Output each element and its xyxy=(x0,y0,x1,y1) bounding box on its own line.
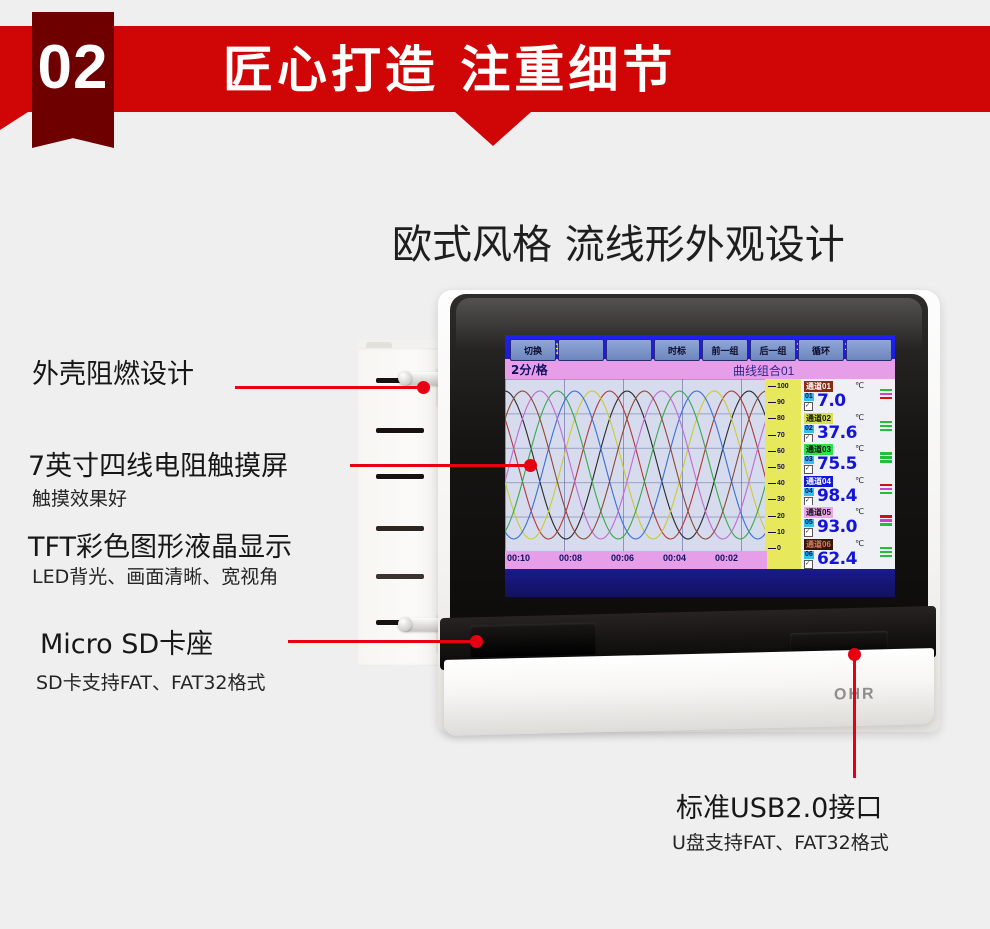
annotation-touch-sub: 触摸效果好 xyxy=(32,484,127,511)
y-axis-tick: 20 xyxy=(777,513,785,520)
bargraph-segment xyxy=(880,547,892,549)
y-axis-tick: 40 xyxy=(777,480,785,487)
channel-unit: ℃ xyxy=(855,476,864,485)
channel-value: 75.5 xyxy=(817,454,857,474)
bargraph-segment xyxy=(880,421,892,423)
channel-unit: ℃ xyxy=(855,444,864,453)
y-axis-tick: 80 xyxy=(777,415,785,422)
lcd-button[interactable] xyxy=(606,339,652,361)
device-photo: 实时曲线 M 2017-11-08 16:33:59 2分/格 曲线组合01 1… xyxy=(340,282,940,752)
channel-row[interactable]: 通道05℃05✓93.0 xyxy=(801,505,895,538)
channel-unit: ℃ xyxy=(855,381,864,390)
y-axis-tick: 90 xyxy=(777,399,785,406)
bargraph-segment xyxy=(880,393,892,395)
lcd-button[interactable]: 切换 xyxy=(510,339,556,361)
channel-value: 62.4 xyxy=(817,549,857,569)
leader-line-case xyxy=(235,386,425,389)
channel-unit: ℃ xyxy=(855,507,864,516)
leader-dot-sd xyxy=(470,635,483,648)
bargraph-segment xyxy=(880,460,892,462)
channel-bargraph xyxy=(880,547,892,559)
y-axis-tick: 30 xyxy=(777,496,785,503)
trend-curves xyxy=(505,379,767,551)
annotation-usb-title: 标准USB2.0接口 xyxy=(676,786,882,825)
time-axis-label: 00:10 xyxy=(507,553,530,563)
channel-unit: ℃ xyxy=(855,539,864,548)
terminal-slot xyxy=(376,474,424,479)
y-axis-tick: 70 xyxy=(777,432,785,439)
time-axis-label: 00:04 xyxy=(663,553,686,563)
terminal-slot xyxy=(376,526,424,531)
bargraph-segment xyxy=(880,515,892,517)
mounting-screw-cap xyxy=(398,371,412,385)
channel-index: 02 xyxy=(804,425,814,433)
micro-sd-slot[interactable] xyxy=(470,622,596,657)
lcd-subbar xyxy=(505,359,895,379)
channel-value: 93.0 xyxy=(817,517,857,537)
lcd-button[interactable] xyxy=(558,339,604,361)
channel-bargraph xyxy=(880,421,892,433)
lcd-group-label: 曲线组合01 xyxy=(733,362,794,379)
channel-bargraph xyxy=(880,452,892,464)
lcd-button[interactable]: 前一组 xyxy=(702,339,748,361)
bargraph-segment xyxy=(880,456,892,458)
channel-index: 06 xyxy=(804,551,814,559)
annotation-tft-title: TFT彩色图形液晶显示 xyxy=(28,525,292,564)
annotation-case-title: 外壳阻燃设计 xyxy=(32,352,194,391)
channel-index: 03 xyxy=(804,456,814,464)
channel-row[interactable]: 通道04℃04✓98.4 xyxy=(801,474,895,507)
y-axis-tick: 10 xyxy=(777,529,785,536)
channel-bargraph xyxy=(880,484,892,496)
bargraph-segment xyxy=(880,555,892,557)
y-axis-ticks: 1009080706050403020100 xyxy=(767,379,801,569)
channel-index: 01 xyxy=(804,393,814,401)
terminal-slot xyxy=(376,428,424,433)
annotation-sd-title: Micro SD卡座 xyxy=(40,622,213,661)
lcd-scale-label: 2分/格 xyxy=(511,361,548,378)
section-number: 02 xyxy=(32,12,114,122)
page-root: 02 匠心打造 注重细节 欧式风格 流线形外观设计 实时曲线 xyxy=(0,0,990,929)
time-axis-label: 00:06 xyxy=(611,553,634,563)
channel-row[interactable]: 通道02℃02✓37.6 xyxy=(801,411,895,444)
lcd-button[interactable] xyxy=(846,339,892,361)
banner-left-notch xyxy=(0,112,28,130)
trend-curve xyxy=(505,391,767,539)
leader-line-touch xyxy=(350,464,532,467)
leader-dot-case xyxy=(417,381,430,394)
channel-value: 7.0 xyxy=(817,391,846,411)
bargraph-segment xyxy=(880,425,892,427)
bargraph-segment xyxy=(880,397,892,399)
banner-title: 匠心打造 注重细节 xyxy=(223,30,676,102)
channel-row[interactable]: 通道06℃06✓62.4 xyxy=(801,537,895,570)
lcd-button[interactable]: 循环 xyxy=(798,339,844,361)
channel-panel: 通道01℃01✓7.0通道02℃02✓37.6通道03℃03✓75.5通道04℃… xyxy=(801,379,895,569)
channel-value: 37.6 xyxy=(817,423,857,443)
lcd-button[interactable]: 时标 xyxy=(654,339,700,361)
annotation-touch-title: 7英寸四线电阻触摸屏 xyxy=(28,444,288,483)
lcd-button[interactable]: 后一组 xyxy=(750,339,796,361)
leader-dot-touch xyxy=(524,459,537,472)
mounting-screw-cap xyxy=(398,617,412,631)
channel-bargraph xyxy=(880,389,892,401)
bargraph-segment xyxy=(880,452,892,454)
y-axis-tick: 100 xyxy=(777,383,789,390)
leader-line-usb xyxy=(853,654,856,778)
channel-index: 05 xyxy=(804,519,814,527)
trend-plot xyxy=(505,379,801,551)
channel-checkbox[interactable]: ✓ xyxy=(804,560,813,569)
y-axis-tick: 0 xyxy=(777,545,781,552)
channel-row[interactable]: 通道01℃01✓7.0 xyxy=(801,379,895,412)
lcd-screen[interactable]: 实时曲线 M 2017-11-08 16:33:59 2分/格 曲线组合01 1… xyxy=(505,335,895,597)
time-axis-label: 00:02 xyxy=(715,553,738,563)
bargraph-segment xyxy=(880,488,892,490)
bargraph-segment xyxy=(880,523,892,525)
annotation-sd-sub: SD卡支持FAT、FAT32格式 xyxy=(36,668,266,695)
section-ribbon-tail xyxy=(32,122,114,148)
bargraph-segment xyxy=(880,389,892,391)
page-headline: 欧式风格 流线形外观设计 xyxy=(392,212,845,270)
lcd-button-bar xyxy=(505,569,895,597)
bargraph-segment xyxy=(880,484,892,486)
annotation-usb-sub: U盘支持FAT、FAT32格式 xyxy=(672,828,889,855)
bargraph-segment xyxy=(880,551,892,553)
leader-line-sd xyxy=(288,640,478,643)
channel-value: 98.4 xyxy=(817,486,857,506)
leader-dot-usb xyxy=(848,648,861,661)
channel-index: 04 xyxy=(804,488,814,496)
channel-unit: ℃ xyxy=(855,413,864,422)
y-axis-tick: 60 xyxy=(777,448,785,455)
annotation-tft-sub: LED背光、画面清晰、宽视角 xyxy=(32,562,278,589)
y-axis-tick: 50 xyxy=(777,464,785,471)
time-axis-label: 00:08 xyxy=(559,553,582,563)
bargraph-segment xyxy=(880,429,892,431)
channel-row[interactable]: 通道03℃03✓75.5 xyxy=(801,442,895,475)
terminal-slot xyxy=(376,574,424,579)
channel-bargraph xyxy=(880,515,892,527)
bargraph-segment xyxy=(880,492,892,494)
bargraph-segment xyxy=(880,519,892,521)
banner-down-arrow xyxy=(455,112,531,146)
